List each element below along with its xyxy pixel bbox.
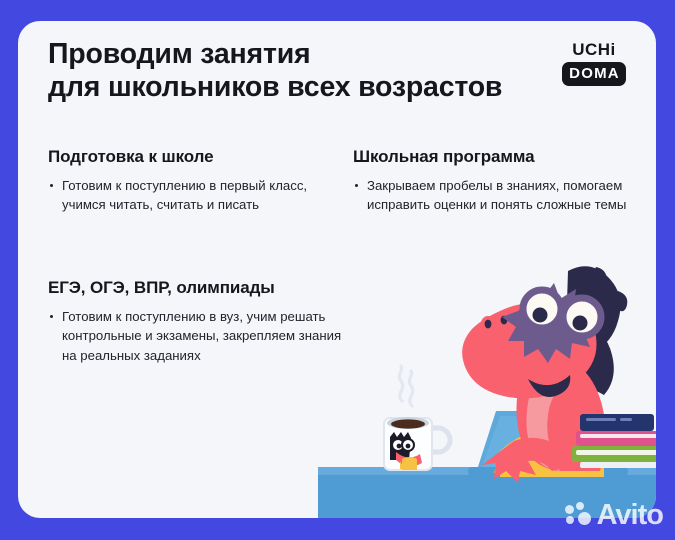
dino-eye-right bbox=[573, 316, 588, 331]
avito-watermark-text: Avito bbox=[597, 501, 663, 530]
section-heading: ЕГЭ, ОГЭ, ВПР, олимпиады bbox=[48, 277, 358, 298]
steaming-mug bbox=[384, 417, 450, 470]
content-card: UCHi DOMA Проводим занятия для школьнико… bbox=[18, 21, 656, 518]
book-mid bbox=[576, 431, 656, 446]
dinosaur-at-laptop-illustration bbox=[318, 261, 656, 518]
title-line-2: для школьников всех возрастов bbox=[48, 71, 558, 104]
book-stack bbox=[572, 414, 656, 468]
list-item: Закрываем пробелы в знаниях, помогаем ис… bbox=[353, 176, 643, 215]
section-heading: Школьная программа bbox=[353, 146, 643, 167]
steam-line-1 bbox=[399, 366, 402, 401]
uchi-doma-logo: UCHi DOMA bbox=[554, 40, 634, 86]
avito-dots-icon bbox=[565, 502, 595, 528]
section-point-list: Готовим к поступлению в вуз, учим решать… bbox=[48, 307, 358, 365]
avito-watermark: Avito bbox=[565, 498, 663, 532]
section-point-list: Готовим к поступлению в первый класс, уч… bbox=[48, 176, 348, 215]
title-line-1: Проводим занятия bbox=[48, 38, 311, 70]
list-item: Готовим к поступлению в первый класс, уч… bbox=[48, 176, 348, 215]
section-exams: ЕГЭ, ОГЭ, ВПР, олимпиады Готовим к посту… bbox=[48, 277, 358, 365]
steam-line-2 bbox=[409, 371, 412, 406]
book-top bbox=[580, 414, 654, 431]
section-point-list: Закрываем пробелы в знаниях, помогаем ис… bbox=[353, 176, 643, 215]
logo-badge: DOMA bbox=[562, 62, 626, 86]
dino-eye-left bbox=[533, 308, 548, 323]
poster-root: UCHi DOMA Проводим занятия для школьнико… bbox=[0, 0, 675, 540]
list-item: Готовим к поступлению в вуз, учим решать… bbox=[48, 307, 358, 365]
section-preschool: Подготовка к школе Готовим к поступлению… bbox=[48, 146, 348, 215]
section-heading: Подготовка к школе bbox=[48, 146, 348, 167]
page-title: Проводим занятия для школьников всех воз… bbox=[48, 38, 558, 104]
logo-top-text: UCHi bbox=[554, 40, 634, 59]
section-school-program: Школьная программа Закрываем пробелы в з… bbox=[353, 146, 643, 215]
